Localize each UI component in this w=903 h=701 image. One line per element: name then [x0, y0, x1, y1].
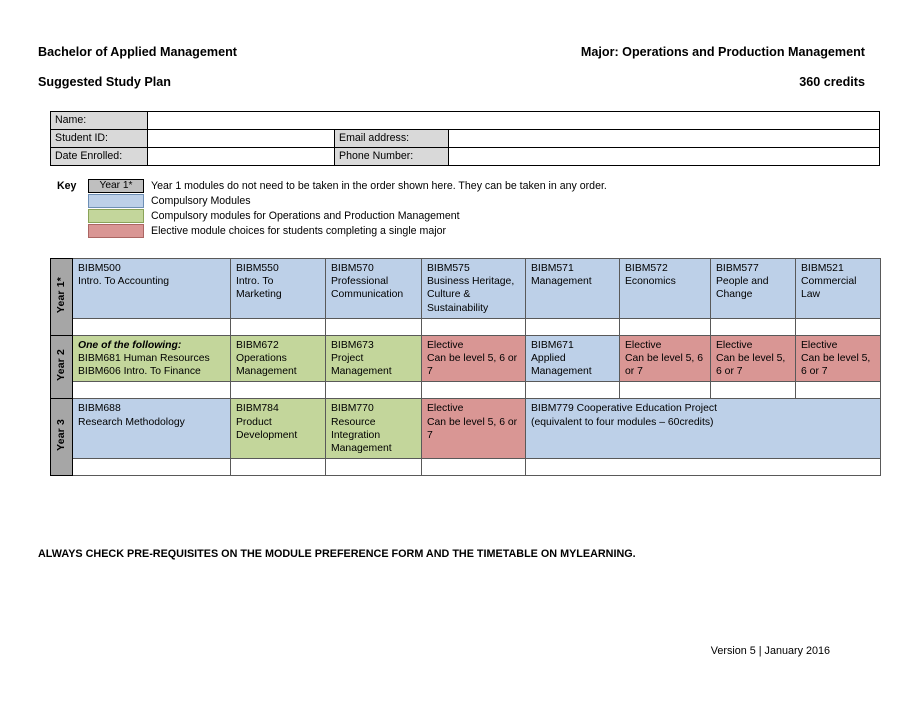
module-name: Operations Management — [236, 352, 321, 378]
module-code: BIBM500 — [78, 262, 226, 275]
module-name: Applied Management — [531, 352, 615, 378]
table-row-year2: Year 2 One of the following: BIBM681 Hum… — [51, 335, 881, 382]
header-row-secondary: Suggested Study Plan 360 credits — [38, 72, 865, 92]
module-cell[interactable]: BIBM577 People and Change — [711, 259, 796, 319]
module-code: Elective — [625, 339, 706, 352]
module-name: Can be level 5, 6 or 7 — [427, 416, 521, 442]
study-plan-table: Year 1* BIBM500 Intro. To Accounting BIB… — [50, 258, 881, 476]
spacer-cell — [711, 318, 796, 335]
module-cell[interactable]: BIBM571 Management — [526, 259, 620, 319]
year1-label: Year 1* — [55, 277, 68, 313]
version-label: Version 5 | January 2016 — [711, 645, 830, 657]
email-input[interactable] — [449, 130, 880, 148]
table-row-spacer — [51, 382, 881, 399]
module-code: BIBM550 — [236, 262, 321, 275]
spacer-cell — [326, 382, 422, 399]
module-cell-choice[interactable]: One of the following: BIBM681 Human Reso… — [73, 335, 231, 382]
spacer-cell — [711, 382, 796, 399]
table-row-spacer — [51, 459, 881, 476]
module-cell[interactable]: BIBM770 Resource Integration Management — [326, 399, 422, 459]
spacer-cell — [422, 318, 526, 335]
module-name: Product Development — [236, 416, 321, 442]
year-label-cell-year1: Year 1* — [51, 259, 73, 336]
legend-swatch-year1: Year 1* — [88, 179, 144, 193]
module-code: BIBM577 — [716, 262, 791, 275]
legend-item-year1: Year 1* Year 1 modules do not need to be… — [88, 178, 607, 193]
legend-swatch-elective — [88, 224, 144, 238]
year2-label: Year 2 — [55, 349, 68, 381]
module-cell[interactable]: BIBM784 Product Development — [231, 399, 326, 459]
legend-item-elective: Elective module choices for students com… — [88, 223, 607, 238]
email-label: Email address: — [335, 130, 449, 148]
module-cell-coop[interactable]: BIBM779 Cooperative Education Project (e… — [526, 399, 881, 459]
prerequisite-notice: ALWAYS CHECK PRE-REQUISITES ON THE MODUL… — [38, 548, 636, 560]
spacer-cell — [620, 318, 711, 335]
module-code: BIBM571 — [531, 262, 615, 275]
phone-input[interactable] — [449, 148, 880, 166]
page-subtitle: Suggested Study Plan — [38, 72, 171, 92]
spacer-cell — [796, 382, 881, 399]
coop-equivalence: (equivalent to four modules – 60credits) — [531, 416, 876, 429]
module-cell[interactable]: BIBM673 Project Management — [326, 335, 422, 382]
module-code: BIBM688 — [78, 402, 226, 415]
name-input[interactable] — [148, 112, 880, 130]
module-code: BIBM784 — [236, 402, 321, 415]
spacer-cell — [422, 459, 526, 476]
module-code: Elective — [427, 402, 521, 415]
module-code: Elective — [716, 339, 791, 352]
spacer-cell — [73, 459, 231, 476]
module-name: Can be level 5, 6 or 7 — [716, 352, 791, 378]
module-name: Commercial Law — [801, 275, 876, 301]
module-cell-elective[interactable]: Elective Can be level 5, 6 or 7 — [620, 335, 711, 382]
module-code: BIBM672 — [236, 339, 321, 352]
module-name: Resource Integration Management — [331, 416, 417, 456]
spacer-cell — [526, 459, 881, 476]
module-cell-elective[interactable]: Elective Can be level 5, 6 or 7 — [796, 335, 881, 382]
module-cell[interactable]: BIBM500 Intro. To Accounting — [73, 259, 231, 319]
module-code: Elective — [801, 339, 876, 352]
legend-title: Key — [57, 180, 76, 192]
table-row-spacer — [51, 318, 881, 335]
spacer-cell — [422, 382, 526, 399]
module-cell-elective[interactable]: Elective Can be level 5, 6 or 7 — [422, 335, 526, 382]
spacer-cell — [526, 382, 620, 399]
document-header: Bachelor of Applied Management Major: Op… — [38, 42, 865, 90]
module-cell-elective[interactable]: Elective Can be level 5, 6 or 7 — [422, 399, 526, 459]
date-enrolled-label: Date Enrolled: — [51, 148, 148, 166]
module-name: Intro. To Accounting — [78, 275, 226, 288]
module-name: Can be level 5, 6 or 7 — [427, 352, 521, 378]
module-code: BIBM770 — [331, 402, 417, 415]
spacer-cell — [73, 318, 231, 335]
name-label: Name: — [51, 112, 148, 130]
year-label-cell-year2: Year 2 — [51, 335, 73, 399]
major-title: Major: Operations and Production Managem… — [581, 42, 865, 62]
choice-heading: One of the following: — [78, 339, 226, 352]
coop-title: BIBM779 Cooperative Education Project — [531, 402, 876, 415]
module-name: Project Management — [331, 352, 417, 378]
table-row-year3: Year 3 BIBM688 Research Methodology BIBM… — [51, 399, 881, 459]
spacer-cell — [796, 318, 881, 335]
legend-label-major-compulsory: Compulsory modules for Operations and Pr… — [144, 209, 460, 223]
module-cell[interactable]: BIBM672 Operations Management — [231, 335, 326, 382]
date-enrolled-input[interactable] — [148, 148, 335, 166]
spacer-cell — [326, 318, 422, 335]
student-id-label: Student ID: — [51, 130, 148, 148]
table-row-year1: Year 1* BIBM500 Intro. To Accounting BIB… — [51, 259, 881, 319]
module-code: Elective — [427, 339, 521, 352]
module-name: Intro. To Marketing — [236, 275, 321, 301]
spacer-cell — [73, 382, 231, 399]
table-row: Name: — [51, 112, 880, 130]
study-plan-page: Bachelor of Applied Management Major: Op… — [0, 0, 903, 701]
module-name: Research Methodology — [78, 416, 226, 429]
module-cell[interactable]: BIBM688 Research Methodology — [73, 399, 231, 459]
module-name: Management — [531, 275, 615, 288]
module-code: BIBM572 — [625, 262, 706, 275]
year3-label: Year 3 — [55, 419, 68, 451]
spacer-cell — [231, 459, 326, 476]
module-name: People and Change — [716, 275, 791, 301]
phone-label: Phone Number: — [335, 148, 449, 166]
table-row: Date Enrolled: Phone Number: — [51, 148, 880, 166]
module-cell[interactable]: BIBM550 Intro. To Marketing — [231, 259, 326, 319]
year-label-cell-year3: Year 3 — [51, 399, 73, 476]
spacer-cell — [231, 382, 326, 399]
header-row-primary: Bachelor of Applied Management Major: Op… — [38, 42, 865, 62]
spacer-cell — [231, 318, 326, 335]
spacer-cell — [526, 318, 620, 335]
module-name: Business Heritage, Culture & Sustainabil… — [427, 275, 521, 315]
spacer-cell — [620, 382, 711, 399]
module-name: Can be level 5, 6 or 7 — [625, 352, 706, 378]
module-code: BIBM570 — [331, 262, 417, 275]
choice-option: BIBM606 Intro. To Finance — [78, 365, 226, 378]
module-cell[interactable]: BIBM521 Commercial Law — [796, 259, 881, 319]
legend-rows: Year 1* Year 1 modules do not need to be… — [88, 178, 607, 238]
legend-item-compulsory: Compulsory Modules — [88, 193, 607, 208]
page-title: Bachelor of Applied Management — [38, 42, 237, 62]
legend-label-year1: Year 1 modules do not need to be taken i… — [144, 179, 607, 193]
module-cell[interactable]: BIBM671 Applied Management — [526, 335, 620, 382]
module-name: Economics — [625, 275, 706, 288]
module-code: BIBM521 — [801, 262, 876, 275]
legend-label-compulsory: Compulsory Modules — [144, 194, 251, 208]
table-row: Student ID: Email address: — [51, 130, 880, 148]
module-cell[interactable]: BIBM572 Economics — [620, 259, 711, 319]
module-cell[interactable]: BIBM575 Business Heritage, Culture & Sus… — [422, 259, 526, 319]
choice-option: BIBM681 Human Resources — [78, 352, 226, 365]
module-cell-elective[interactable]: Elective Can be level 5, 6 or 7 — [711, 335, 796, 382]
student-details-table: Name: Student ID: Email address: Date En… — [50, 111, 880, 166]
total-credits: 360 credits — [799, 72, 865, 92]
module-name: Can be level 5, 6 or 7 — [801, 352, 876, 378]
module-code: BIBM575 — [427, 262, 521, 275]
module-code: BIBM671 — [531, 339, 615, 352]
legend-label-elective: Elective module choices for students com… — [144, 224, 446, 238]
module-name: Professional Communication — [331, 275, 417, 301]
legend-swatch-major-compulsory — [88, 209, 144, 223]
spacer-cell — [326, 459, 422, 476]
module-cell[interactable]: BIBM570 Professional Communication — [326, 259, 422, 319]
student-id-input[interactable] — [148, 130, 335, 148]
legend-item-major-compulsory: Compulsory modules for Operations and Pr… — [88, 208, 607, 223]
legend-swatch-compulsory — [88, 194, 144, 208]
module-code: BIBM673 — [331, 339, 417, 352]
